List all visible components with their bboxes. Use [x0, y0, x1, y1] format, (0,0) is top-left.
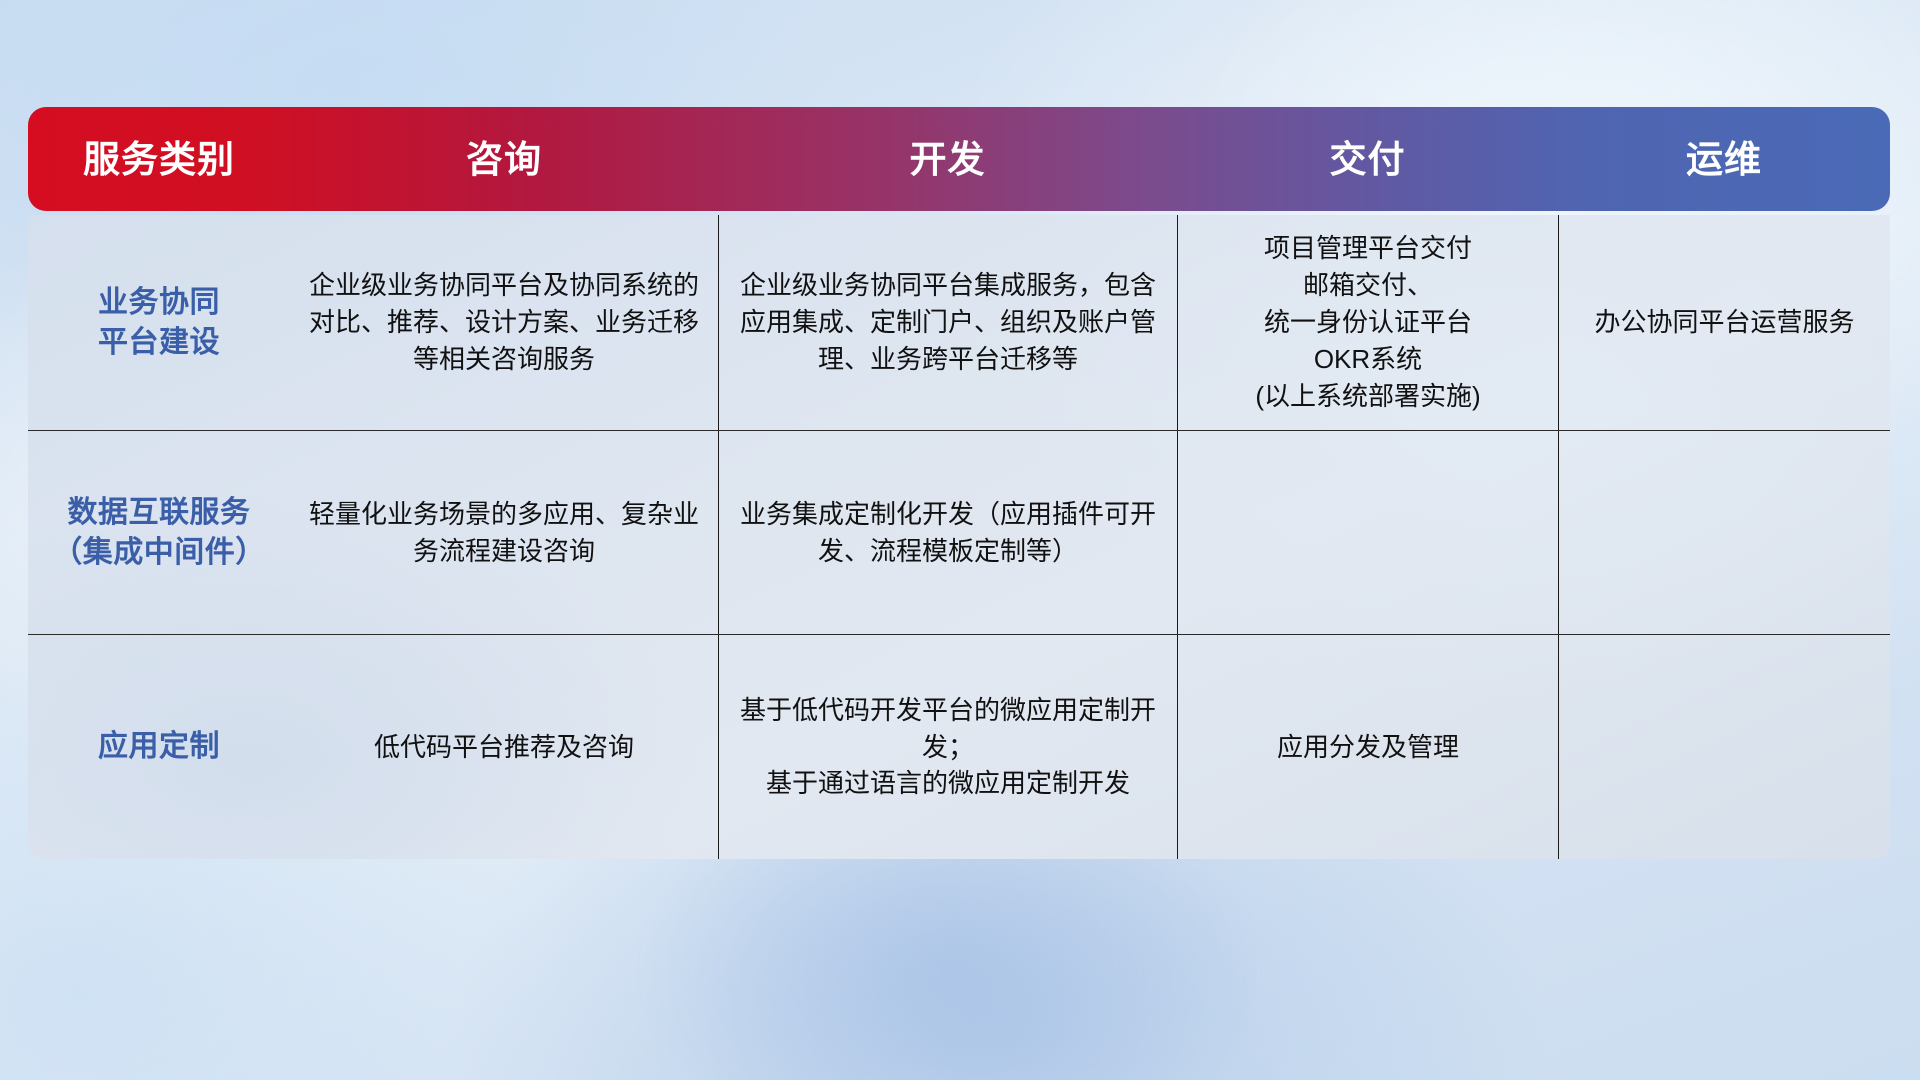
cell-delivery: 项目管理平台交付邮箱交付、统一身份认证平台OKR系统(以上系统部署实施): [1177, 215, 1558, 430]
table-row: 业务协同平台建设 企业级业务协同平台及协同系统的对比、推荐、设计方案、业务迁移等…: [28, 215, 1890, 431]
row-category-cell: 业务协同平台建设: [28, 215, 290, 430]
column-header-consulting: 咨询: [290, 141, 718, 178]
cell-development: 企业级业务协同平台集成服务，包含应用集成、定制门户、组织及账户管理、业务跨平台迁…: [718, 215, 1177, 430]
cell-text: 项目管理平台交付邮箱交付、统一身份认证平台OKR系统(以上系统部署实施): [1255, 230, 1480, 415]
cell-text: 业务集成定制化开发（应用插件可开发、流程模板定制等）: [733, 496, 1163, 570]
cell-text: 低代码平台推荐及咨询: [374, 729, 634, 766]
table-body: 业务协同平台建设 企业级业务协同平台及协同系统的对比、推荐、设计方案、业务迁移等…: [28, 215, 1890, 859]
cell-text: 办公协同平台运营服务: [1594, 304, 1854, 341]
cell-consulting: 轻量化业务场景的多应用、复杂业务流程建设咨询: [290, 431, 718, 634]
cell-operations: [1558, 431, 1890, 634]
cell-text: 企业级业务协同平台及协同系统的对比、推荐、设计方案、业务迁移等相关咨询服务: [304, 267, 704, 378]
cell-consulting: 低代码平台推荐及咨询: [290, 635, 718, 859]
service-matrix-table: 服务类别 咨询 开发 交付 运维 业务协同平台建设 企业级业务协同平台及协同系统…: [28, 107, 1890, 859]
table-header-row: 服务类别 咨询 开发 交付 运维: [28, 107, 1890, 211]
cell-text: 应用分发及管理: [1277, 729, 1459, 766]
row-category-cell: 数据互联服务（集成中间件）: [28, 431, 290, 634]
category-label: 数据互联服务（集成中间件）: [52, 493, 266, 572]
cell-text: 轻量化业务场景的多应用、复杂业务流程建设咨询: [304, 496, 704, 570]
cell-delivery: [1177, 431, 1558, 634]
column-header-operations: 运维: [1558, 141, 1890, 178]
column-header-service-category: 服务类别: [28, 141, 290, 178]
cell-text: 企业级业务协同平台集成服务，包含应用集成、定制门户、组织及账户管理、业务跨平台迁…: [733, 267, 1163, 378]
cell-development: 业务集成定制化开发（应用插件可开发、流程模板定制等）: [718, 431, 1177, 634]
cell-consulting: 企业级业务协同平台及协同系统的对比、推荐、设计方案、业务迁移等相关咨询服务: [290, 215, 718, 430]
cell-text: 基于低代码开发平台的微应用定制开发；基于通过语言的微应用定制开发: [733, 692, 1163, 803]
table-row: 数据互联服务（集成中间件） 轻量化业务场景的多应用、复杂业务流程建设咨询 业务集…: [28, 431, 1890, 635]
category-label: 业务协同平台建设: [98, 283, 220, 362]
category-label: 应用定制: [98, 727, 220, 767]
table-row: 应用定制 低代码平台推荐及咨询 基于低代码开发平台的微应用定制开发；基于通过语言…: [28, 635, 1890, 859]
cell-development: 基于低代码开发平台的微应用定制开发；基于通过语言的微应用定制开发: [718, 635, 1177, 859]
column-header-development: 开发: [718, 141, 1177, 178]
row-category-cell: 应用定制: [28, 635, 290, 859]
cell-operations: [1558, 635, 1890, 859]
cell-operations: 办公协同平台运营服务: [1558, 215, 1890, 430]
column-header-delivery: 交付: [1177, 141, 1558, 178]
cell-delivery: 应用分发及管理: [1177, 635, 1558, 859]
